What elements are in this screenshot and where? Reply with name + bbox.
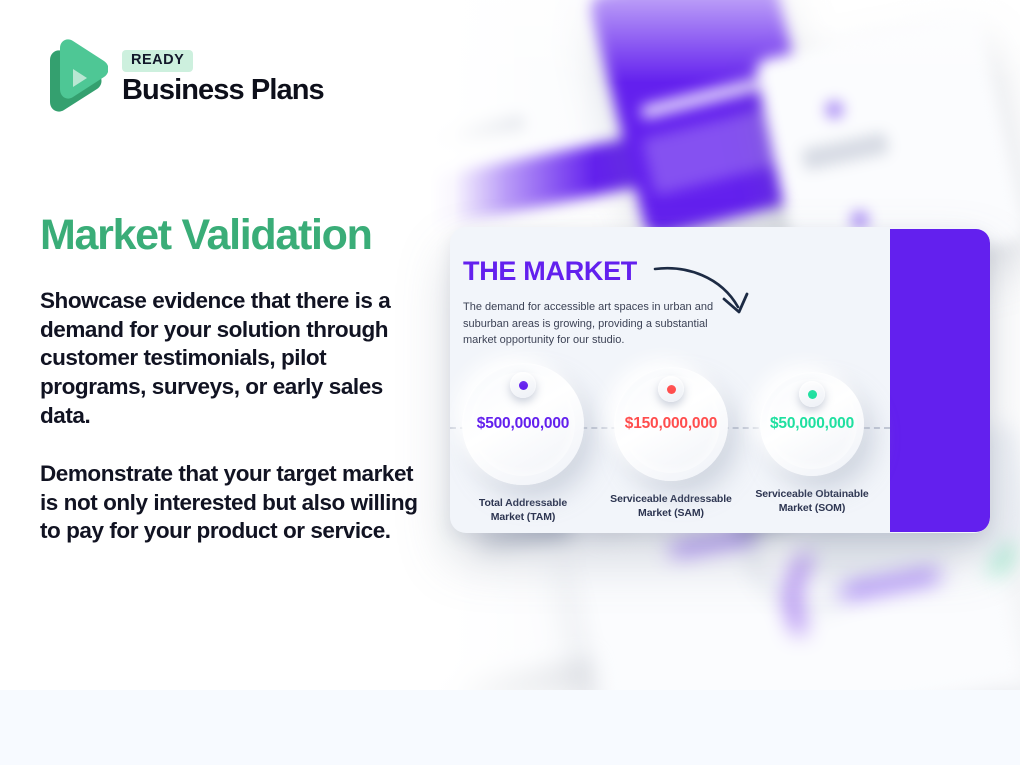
- metric-value-sam: $150,000,000: [625, 415, 717, 433]
- play-triangle-logo-icon: [40, 38, 108, 118]
- metric-sam[interactable]: $150,000,000 Serviceable Addressable Mar…: [605, 367, 737, 520]
- metric-value-som: $50,000,000: [770, 415, 854, 433]
- metric-label-som-line2: Market (SOM): [779, 502, 845, 514]
- brand-lockup-text: READY Business Plans: [122, 50, 324, 106]
- market-bubbles: $500,000,000 Total Addressable Market (T…: [450, 345, 890, 525]
- body-paragraph-1: Showcase evidence that there is a demand…: [40, 287, 432, 430]
- slide-page: READY Business Plans Market Validation S…: [0, 0, 1020, 765]
- purple-dot-indicator-icon: [510, 372, 536, 398]
- metric-label-som: Serviceable Obtainable Market (SOM): [746, 487, 878, 515]
- metric-label-tam: Total Addressable Market (TAM): [457, 496, 589, 524]
- copy-column: Market Validation Showcase evidence that…: [40, 212, 432, 546]
- accent-panel: [890, 229, 990, 532]
- metric-label-tam-line2: Market (TAM): [491, 511, 556, 523]
- metric-label-tam-line1: Total Addressable: [479, 497, 567, 509]
- metric-label-sam: Serviceable Addressable Market (SAM): [605, 492, 737, 520]
- metric-value-tam: $500,000,000: [477, 415, 569, 433]
- curved-down-right-arrow-icon: [653, 263, 763, 323]
- brand-name: Business Plans: [122, 75, 324, 105]
- body-paragraph-2: Demonstrate that your target market is n…: [40, 460, 432, 546]
- green-dot-indicator-icon: [799, 381, 825, 407]
- red-dot-indicator-icon: [658, 376, 684, 402]
- metric-bubble-som: $50,000,000: [760, 372, 864, 476]
- market-slide-card[interactable]: THE MARKET The demand for accessible art…: [450, 227, 990, 533]
- metric-som[interactable]: $50,000,000 Serviceable Obtainable Marke…: [746, 372, 878, 515]
- metric-label-sam-line1: Serviceable Addressable: [610, 493, 732, 505]
- page-title: Market Validation: [40, 212, 432, 259]
- metric-label-som-line1: Serviceable Obtainable: [755, 488, 868, 500]
- metric-bubble-tam: $500,000,000: [462, 363, 584, 485]
- metric-tam[interactable]: $500,000,000 Total Addressable Market (T…: [457, 363, 589, 524]
- metric-bubble-sam: $150,000,000: [614, 367, 728, 481]
- metric-label-sam-line2: Market (SAM): [638, 507, 704, 519]
- slide-title: THE MARKET: [463, 256, 637, 287]
- brand-logo[interactable]: READY Business Plans: [40, 38, 324, 118]
- ready-badge: READY: [122, 50, 193, 72]
- bottom-strip: [0, 690, 1020, 765]
